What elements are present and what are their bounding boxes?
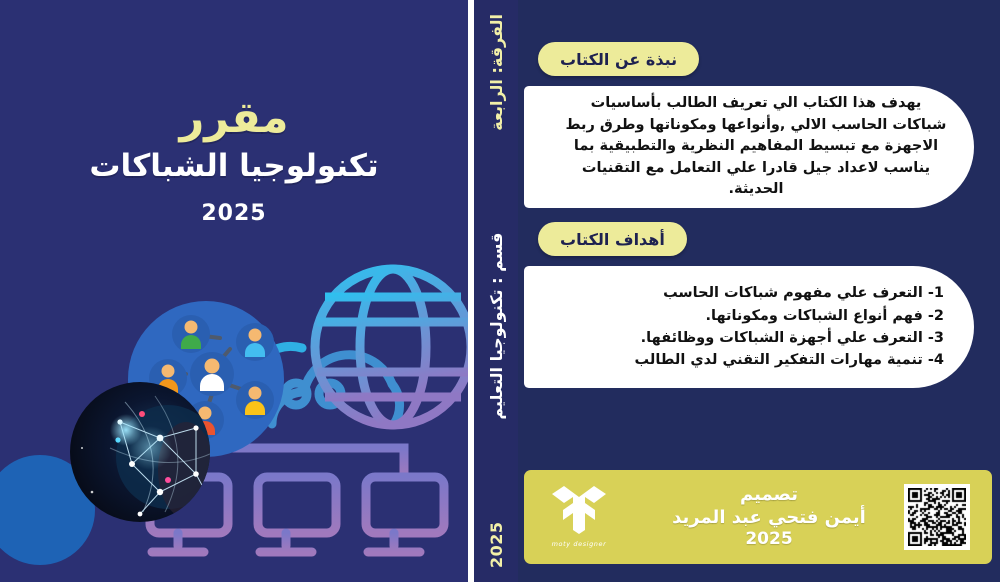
about-book-text: يهدف هذا الكتاب الي تعريف الطالب بأساسيا…: [524, 93, 974, 200]
objective-item: 3- التعرف علي أجهزة الشباكات ووظائفها.: [564, 327, 944, 349]
user-node-cyan: [236, 323, 274, 361]
about-book-card: يهدف هذا الكتاب الي تعريف الطالب بأساسيا…: [524, 86, 974, 208]
course-kicker: مقرر: [0, 96, 468, 141]
page-title: تكنولوجيا الشباكات: [0, 149, 468, 185]
spine-group-label: الفرقة: الرابعة: [487, 14, 506, 131]
spine-year: 2025: [487, 521, 506, 568]
designer-logo-block: moty designer: [524, 486, 634, 548]
book-objectives-badge: أهداف الكتاب: [538, 222, 687, 256]
network-technology-illustration: [0, 252, 468, 582]
front-cover-year: 2025: [0, 201, 468, 226]
credit-year: 2025: [634, 529, 904, 551]
designer-credit-text: تصميم أيمن فتحي عبد المريد 2025: [634, 483, 904, 551]
about-book-badge: نبذة عن الكتاب: [538, 42, 699, 76]
front-cover-title-block: مقرر تكنولوجيا الشباكات 2025: [0, 96, 468, 226]
credit-line-1: تصميم: [634, 483, 904, 506]
front-cover-panel: مقرر تكنولوجيا الشباكات 2025: [0, 0, 468, 582]
spine-department-label: قسم : تكنولوجيا التعليم: [487, 233, 506, 420]
user-node-yellow: [236, 381, 274, 419]
user-node-green: [172, 315, 210, 353]
back-cover-panel: نبذة عن الكتاب يهدف هذا الكتاب الي تعريف…: [518, 0, 1000, 582]
objective-item: 4- تنمية مهارات التفكير التقني لدي الطال…: [564, 349, 944, 371]
objective-item: 1- التعرف علي مفهوم شباكات الحاسب: [564, 282, 944, 304]
book-spine-panel: الفرقة: الرابعة قسم : تكنولوجيا التعليم …: [474, 0, 518, 582]
globe-icon: [315, 269, 468, 425]
moty-designer-logo: [548, 486, 610, 538]
credit-line-2: أيمن فتحي عبد المريد: [634, 506, 904, 529]
book-objectives-card: 1- التعرف علي مفهوم شباكات الحاسب 2- فهم…: [524, 266, 974, 388]
objective-item: 2- فهم أنواع الشباكات ومكوناتها.: [564, 305, 944, 327]
designer-credit-bar: moty designer تصميم أيمن فتحي عبد المريد…: [524, 470, 992, 564]
book-cover-layout: مقرر تكنولوجيا الشباكات 2025: [0, 0, 1000, 582]
book-objectives-list: 1- التعرف علي مفهوم شباكات الحاسب 2- فهم…: [524, 282, 974, 372]
user-node-center: [190, 352, 234, 396]
qr-code[interactable]: [904, 484, 970, 550]
designer-logo-subtitle: moty designer: [552, 540, 607, 548]
